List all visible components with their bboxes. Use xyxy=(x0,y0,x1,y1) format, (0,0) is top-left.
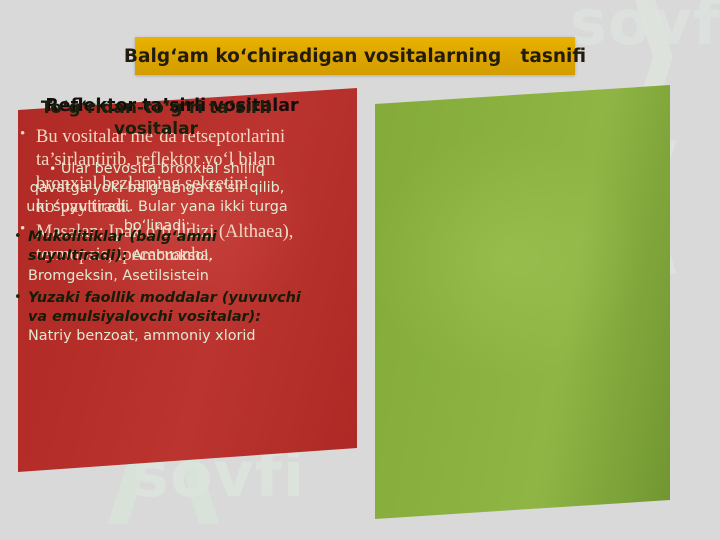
bullet-icon: • xyxy=(20,125,25,144)
panel-highlight xyxy=(370,80,676,524)
list-item-term: Yuzaki faollik moddalar (yuvuvchi va emu… xyxy=(28,290,301,325)
panel-heading-right: To‘g‘ridan-to‘g‘ri ta’sirli vositalar xyxy=(34,98,278,139)
bullet-icon: • xyxy=(14,289,22,306)
bullet-list-right: • Mukolitiklar (balg‘amni suyultiradi): … xyxy=(6,228,302,350)
panel-intro-text: Ular bevosita bronxial shilliq qavatga y… xyxy=(26,161,288,234)
slide-canvas: ⟩⟨ ⟩⟨ ⟩⟨ ⟩⟨ sovfi sovfi Balg‘am ko‘chira… xyxy=(0,0,720,540)
list-item-detail: Natriy benzoat, ammoniy xlorid xyxy=(28,328,256,344)
panel-direct-agents xyxy=(370,80,676,524)
watermark-text: sovfi xyxy=(570,0,720,54)
bullet-icon: • xyxy=(49,162,56,176)
bullet-icon: • xyxy=(14,228,22,245)
list-item: • Yuzaki faollik moddalar (yuvuvchi va e… xyxy=(6,289,302,347)
list-item: • Mukolitiklar (balg‘amni suyultiradi): … xyxy=(6,228,302,286)
slide-title-banner: Balg‘am ko‘chiradigan vositalarning tasn… xyxy=(135,37,575,75)
panel-intro-right: • Ular bevosita bronxial shilliq qavatga… xyxy=(18,160,296,236)
page-title: Balg‘am ko‘chiradigan vositalarning tasn… xyxy=(124,46,586,67)
